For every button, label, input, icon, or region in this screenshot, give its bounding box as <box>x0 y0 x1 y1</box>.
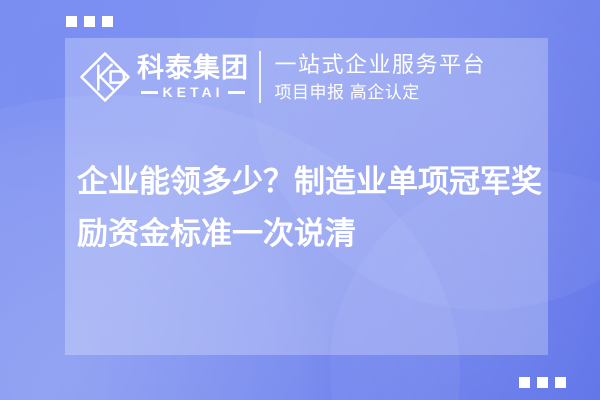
tagline-main: 一站式企业服务平台 <box>275 51 487 79</box>
ketai-logo-icon <box>77 49 133 105</box>
brand-rule-left <box>141 91 158 94</box>
square-dot-icon <box>537 377 548 388</box>
decorative-dots-bottom-right <box>519 377 566 388</box>
square-dot-icon <box>102 16 113 27</box>
brand-name-cn: 科泰集团 <box>137 54 249 82</box>
tagline-sub: 项目申报 高企认定 <box>275 82 487 103</box>
brand-rule-right <box>228 91 245 94</box>
square-dot-icon <box>555 377 566 388</box>
brand-name-en: KETAI <box>163 84 224 100</box>
header-divider <box>259 51 261 103</box>
promo-banner: 科泰集团 KETAI 一站式企业服务平台 项目申报 高企认定 企业能领多少？制造… <box>0 0 600 400</box>
square-dot-icon <box>66 16 77 27</box>
headline-line-2: 励资金标准一次说清 <box>77 208 548 260</box>
square-dot-icon <box>519 377 530 388</box>
content-card: 科泰集团 KETAI 一站式企业服务平台 项目申报 高企认定 企业能领多少？制造… <box>65 38 548 355</box>
square-dot-icon <box>84 16 95 27</box>
brand-name-en-row: KETAI <box>137 84 249 100</box>
tagline-block: 一站式企业服务平台 项目申报 高企认定 <box>275 51 487 104</box>
card-header: 科泰集团 KETAI 一站式企业服务平台 项目申报 高企认定 <box>65 38 548 116</box>
brand-lockup: 科泰集团 KETAI <box>77 49 249 105</box>
headline-line-1: 企业能领多少？制造业单项冠军奖 <box>77 156 548 208</box>
decorative-dots-top-left <box>66 16 113 27</box>
brand-text-block: 科泰集团 KETAI <box>137 54 249 100</box>
headline: 企业能领多少？制造业单项冠军奖 励资金标准一次说清 <box>77 156 548 260</box>
